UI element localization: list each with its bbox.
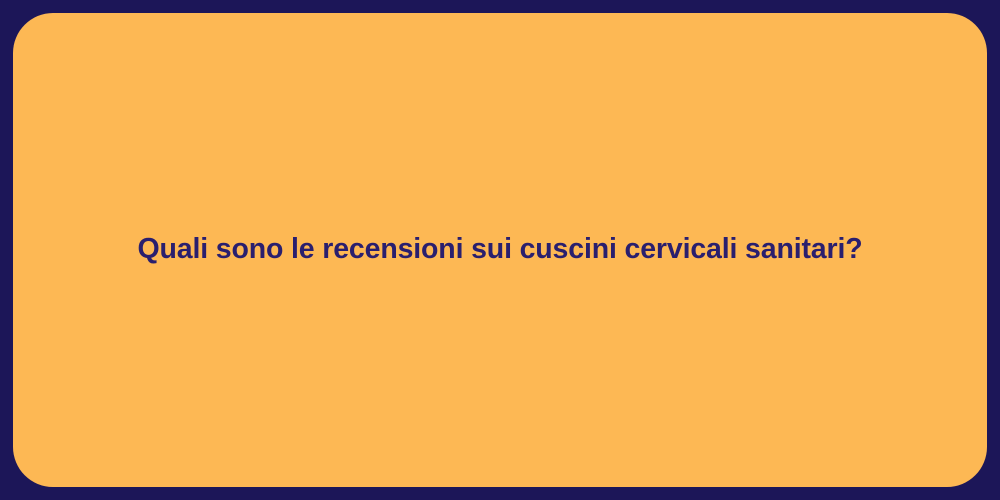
card-content-wrapper: Quali sono le recensioni sui cuscini cer… xyxy=(13,232,987,268)
content-card: Quali sono le recensioni sui cuscini cer… xyxy=(13,13,987,487)
page-frame: Quali sono le recensioni sui cuscini cer… xyxy=(0,0,1000,500)
page-title: Quali sono le recensioni sui cuscini cer… xyxy=(138,232,863,268)
